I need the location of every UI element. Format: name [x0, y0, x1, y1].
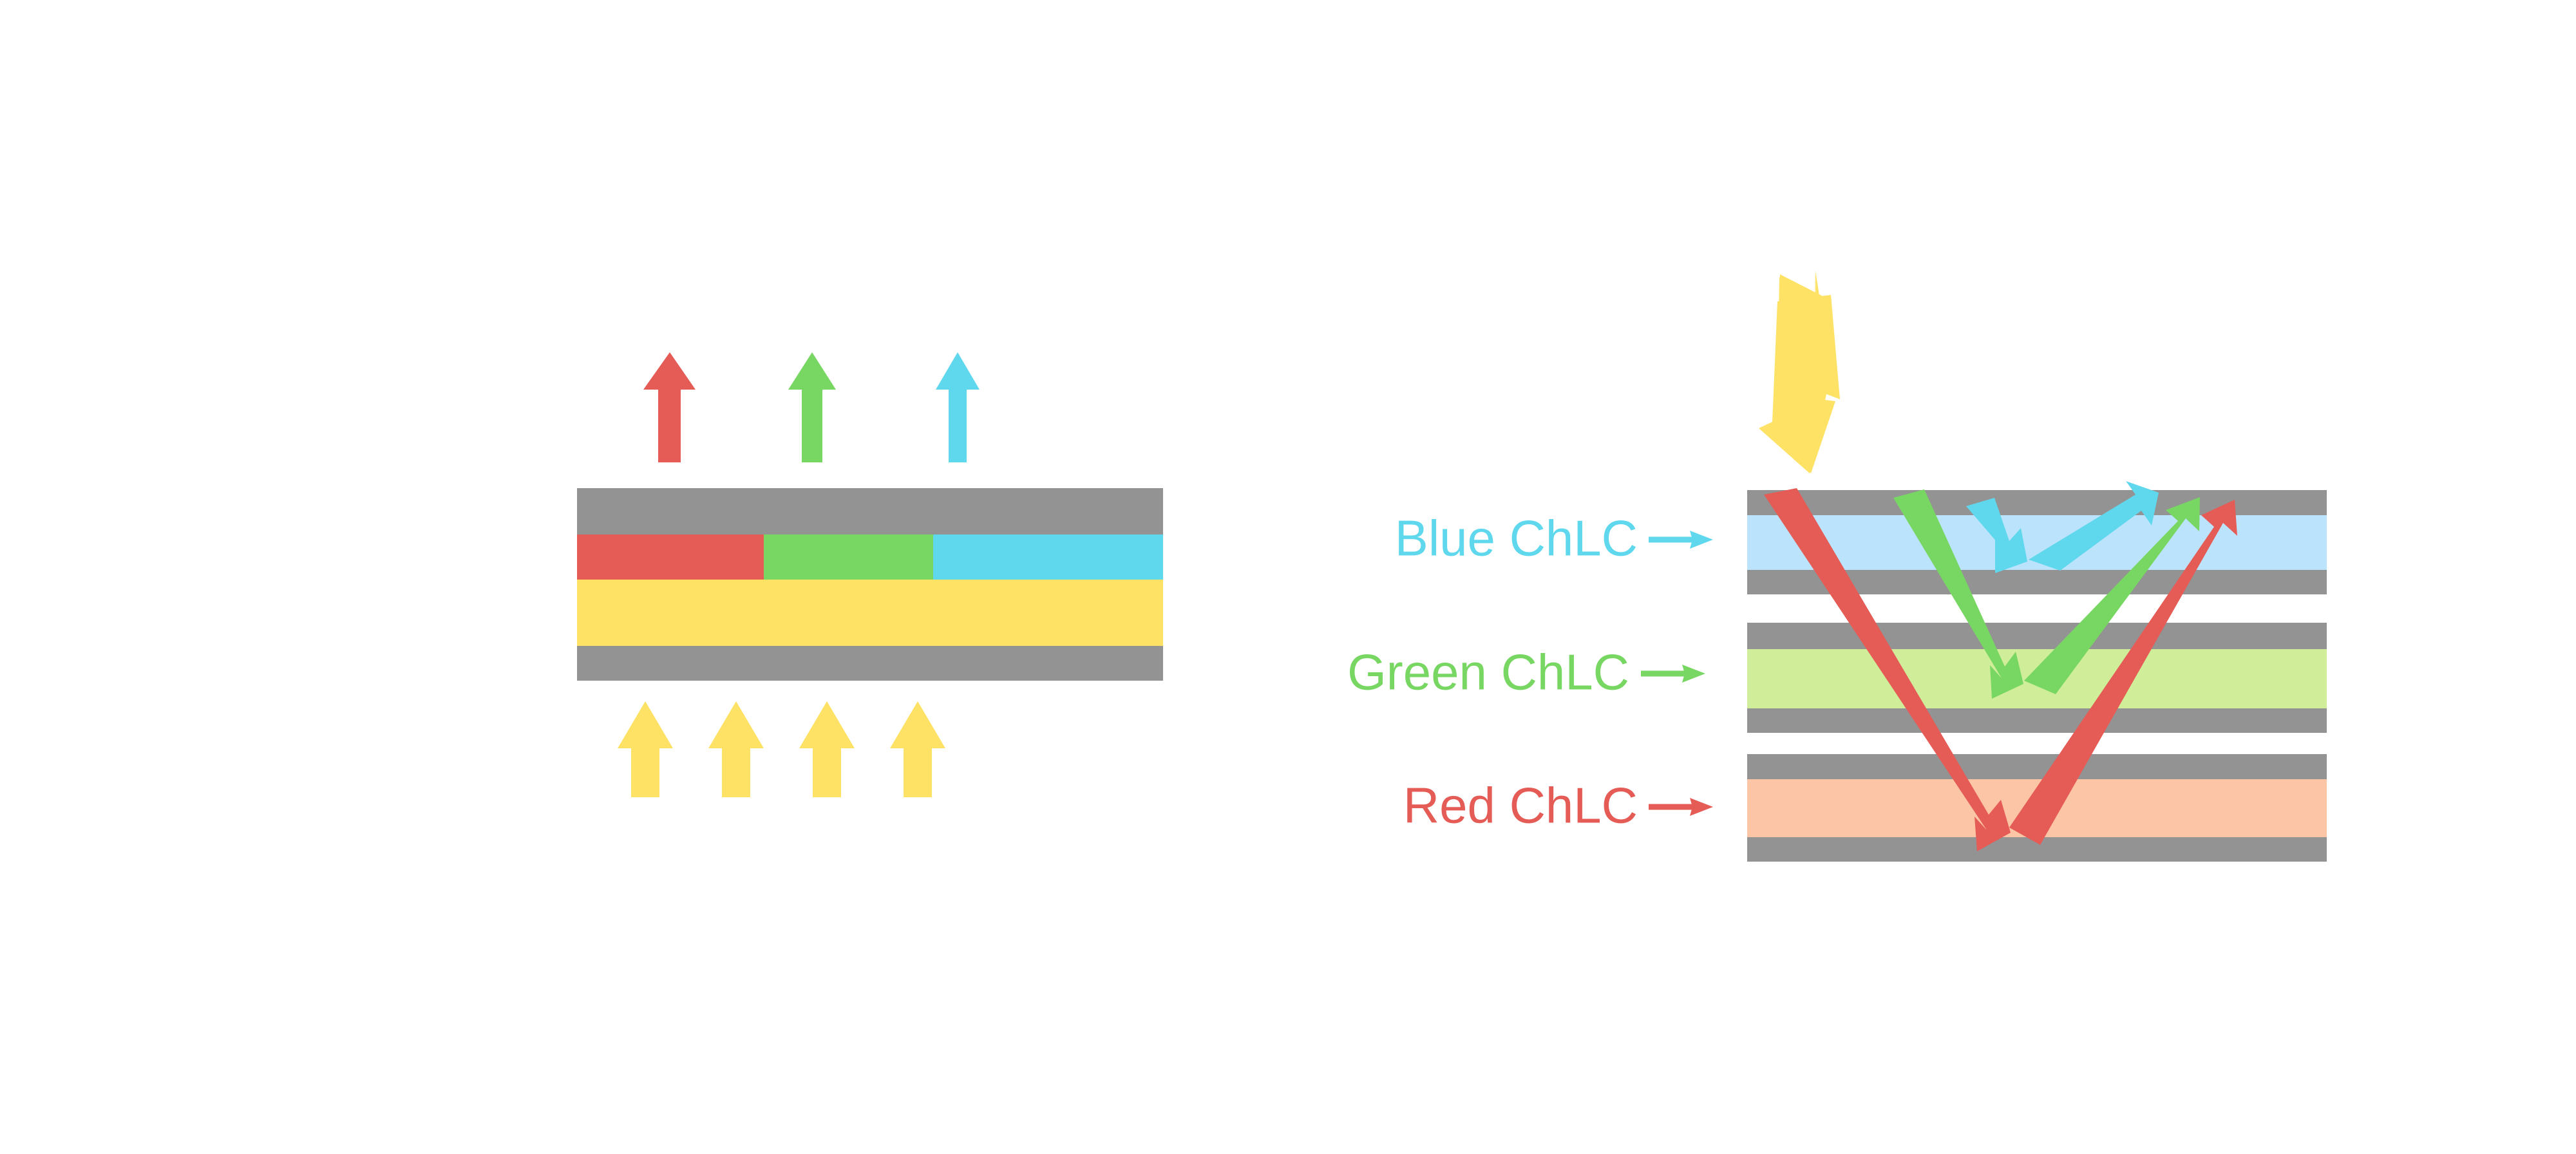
red-filter [577, 534, 764, 580]
red-cell-top-electrode [1747, 754, 2327, 779]
left-stack [577, 488, 1163, 681]
green-cell-top-electrode [1747, 623, 2327, 649]
diagram-canvas: Blue ChLC Green ChLC Red ChLC [0, 0, 2576, 1154]
green-cell-bottom-electrode [1747, 708, 2327, 733]
label-red-chlc-text: Red ChLC [1403, 777, 1638, 834]
backlight-layer [577, 580, 1163, 646]
bottom-electrode [577, 646, 1163, 681]
blue-cell-top-electrode [1747, 490, 2327, 515]
label-blue-chlc-text: Blue ChLC [1395, 510, 1638, 567]
blue-filter [933, 534, 1163, 580]
label-green-chlc-text: Green ChLC [1347, 644, 1629, 701]
green-filter [764, 534, 933, 580]
top-electrode [577, 488, 1163, 534]
